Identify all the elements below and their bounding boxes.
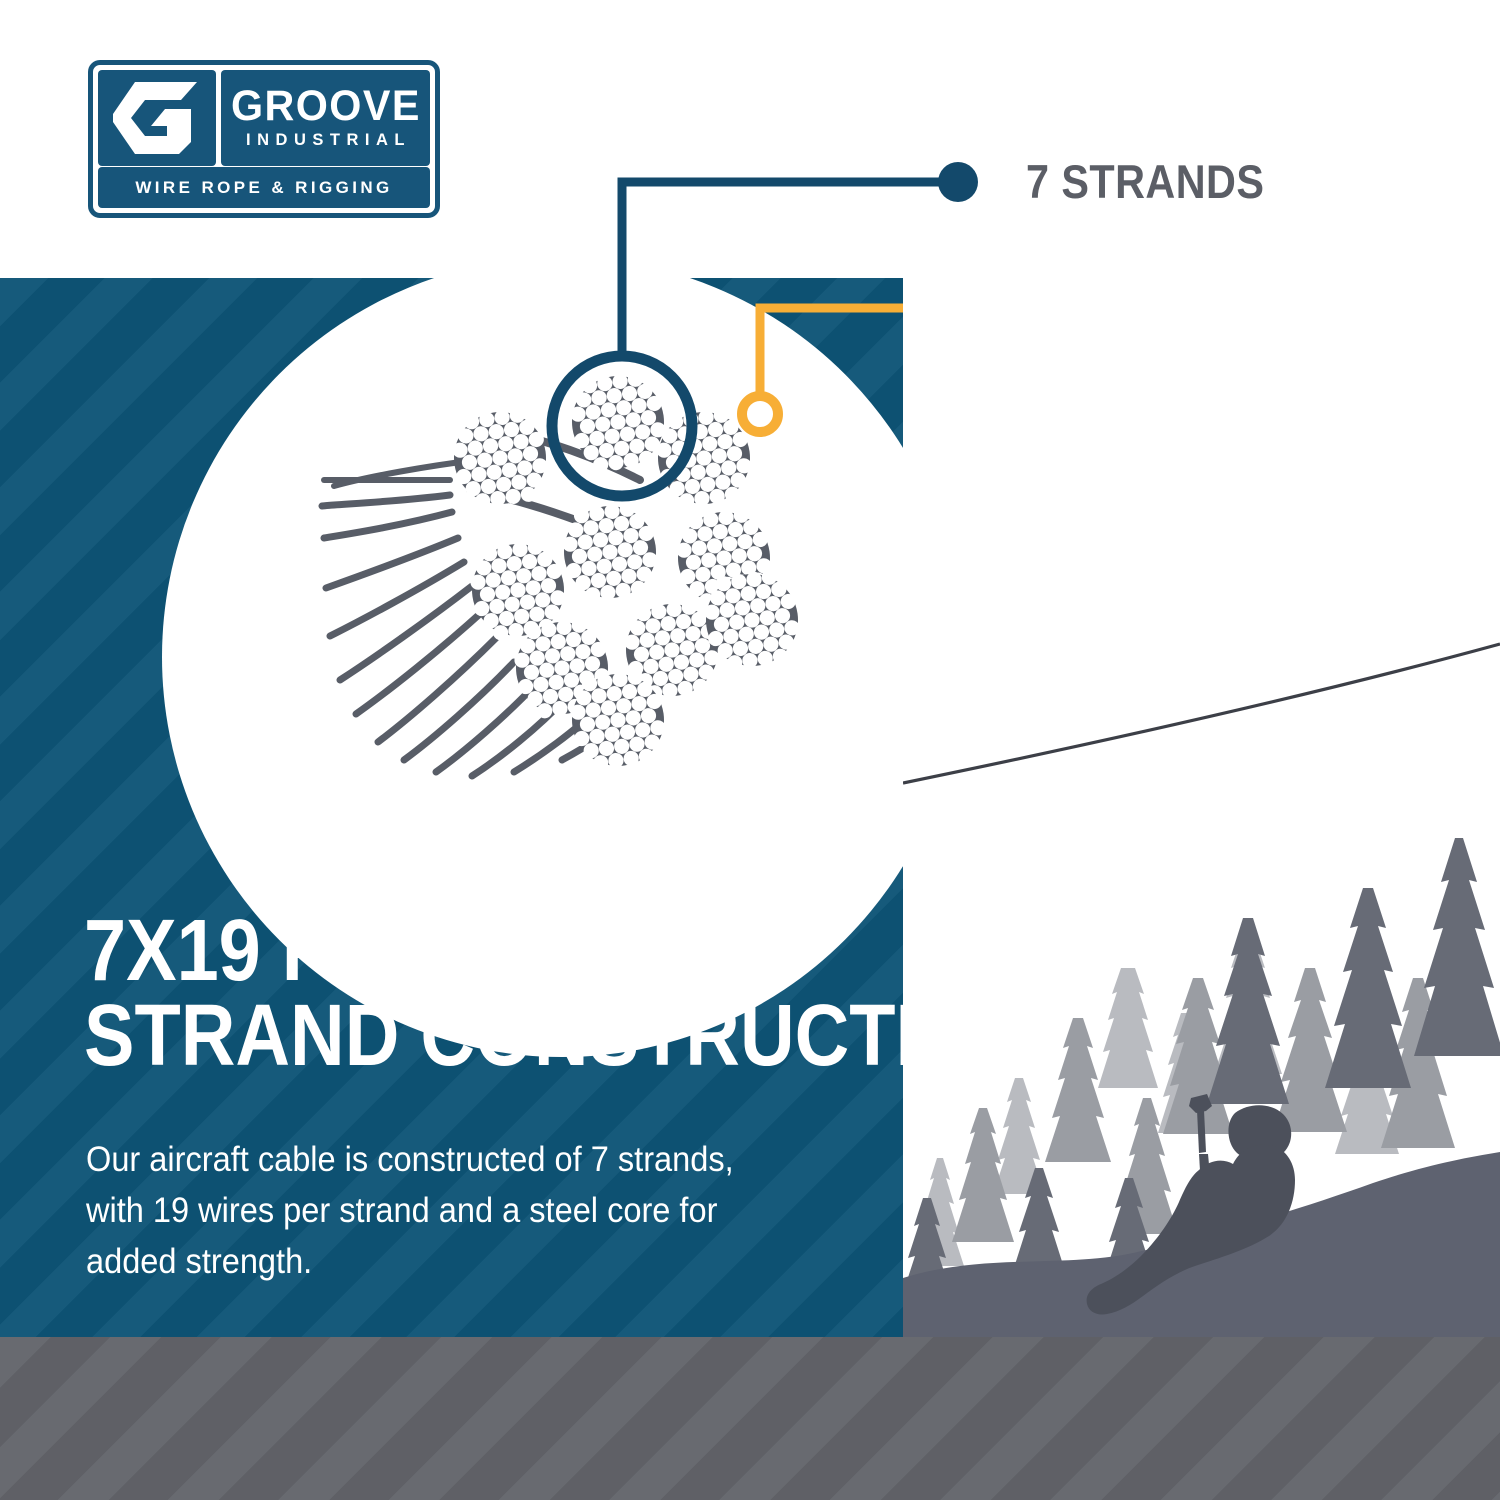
groove-g-icon [111,82,203,154]
logo-subtitle: INDUSTRIAL [240,131,411,150]
headline-line-2: STRAND CONSTRUCTION [84,993,771,1078]
callout-dot-icon [938,162,978,202]
callout-label: 7 STRANDS [1026,158,1264,205]
callout-7-strands[interactable]: 7 STRANDS [938,158,1297,205]
brand-logo[interactable]: GROOVE INDUSTRIAL WIRE ROPE & RIGGING [88,60,440,218]
logo-inner: GROOVE INDUSTRIAL WIRE ROPE & RIGGING [98,70,430,208]
zipline-photo [903,278,1500,1337]
headline-line-1: 7X19 FLEXIBLE [84,908,771,993]
wire-rope-cross-section [300,290,860,810]
logo-tagline-bar: WIRE ROPE & RIGGING [98,167,430,208]
body-copy: Our aircraft cable is constructed of 7 s… [86,1135,737,1287]
logo-word: GROOVE [231,86,421,127]
logo-tagline: WIRE ROPE & RIGGING [135,178,392,198]
infographic-canvas: GROOVE INDUSTRIAL WIRE ROPE & RIGGING [0,0,1500,1500]
logo-mark-container [98,70,216,166]
logo-wordmark-container: GROOVE INDUSTRIAL [221,70,430,166]
bottom-gray-band [0,1337,1500,1500]
logo-top-row: GROOVE INDUSTRIAL [98,70,430,166]
page-title: 7X19 FLEXIBLE STRAND CONSTRUCTION [84,908,771,1079]
